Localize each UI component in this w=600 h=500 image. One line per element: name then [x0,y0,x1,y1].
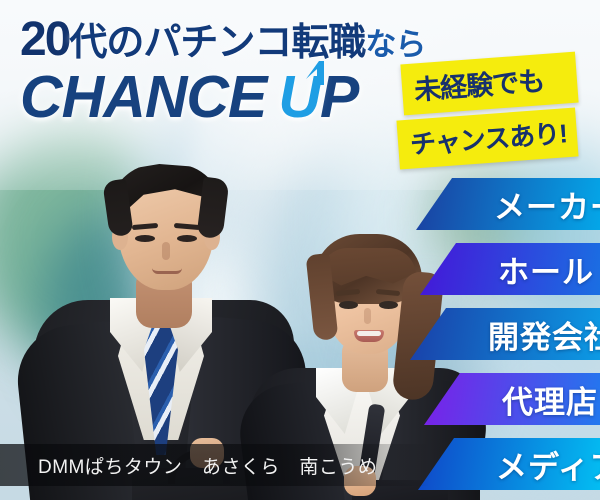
category-label: 代理店 [502,377,598,422]
recruitment-banner-ad[interactable]: 20代のパチンコ転職なら CHANCEUP 未経験でも チャンスあり! メーカー… [0,0,600,500]
category-bar-media[interactable]: メディア [418,438,600,490]
headline-age-suffix: 代の [69,22,143,64]
category-label: メーカー [494,182,600,227]
headline-block: 20代のパチンコ転職なら CHANCEUP [20,16,420,127]
category-label: ホール [498,247,594,292]
category-label: 開発会社 [488,312,600,357]
category-bar-development-company[interactable]: 開発会社 [410,308,600,360]
promo-badges: 未経験でも チャンスあり! [402,58,577,163]
headline-connector: なら [365,27,425,62]
category-bar-agency[interactable]: 代理店 [424,373,600,425]
caption-bar: DMMぱちタウン あさくら 南こうめ [0,444,430,486]
logo-word-chance: CHANCE [20,64,266,130]
category-label: メディア [496,442,600,487]
caption-text: DMMぱちタウン あさくら 南こうめ [38,452,377,479]
headline-age-number: 20 [20,13,69,66]
headline-line-1: 20代のパチンコ転職なら [20,16,420,64]
logo-letter-u: U [278,64,320,130]
category-bar-maker[interactable]: メーカー [416,178,600,230]
chance-up-logo: CHANCEUP [20,68,420,127]
headline-keyword: パチンコ転職 [143,22,365,64]
logo-letter-p: P [320,64,358,130]
badge-chance-available: チャンスあり! [396,108,578,170]
badge-no-experience: 未経験でも [400,52,578,116]
category-bar-hall[interactable]: ホール [420,243,600,295]
